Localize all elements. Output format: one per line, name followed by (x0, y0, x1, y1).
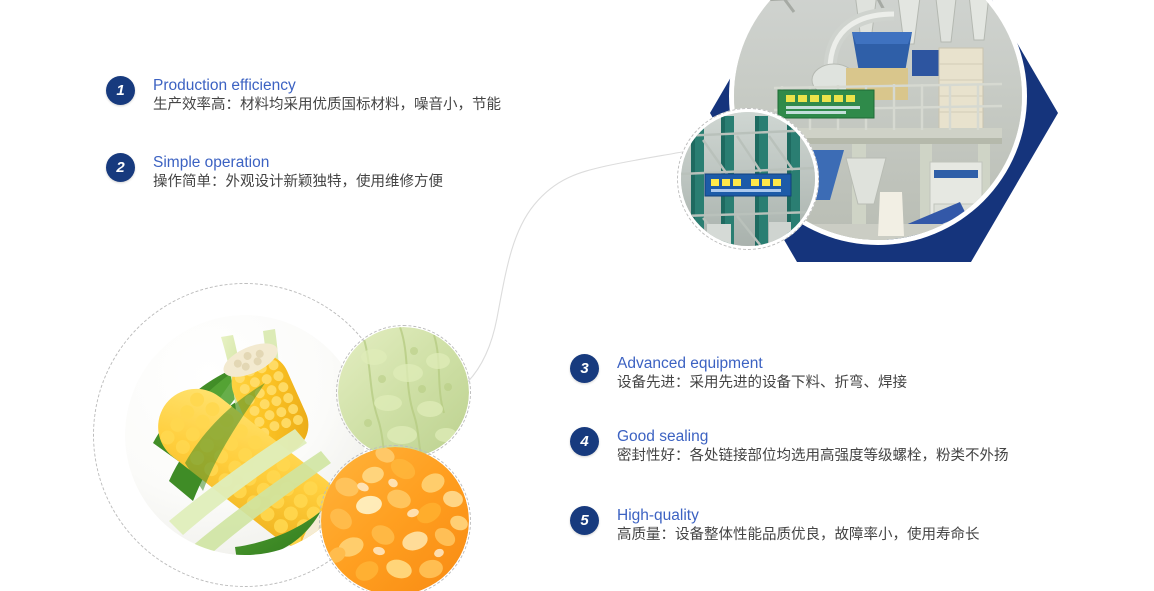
feature-badge-3: 3 (570, 354, 599, 383)
feature-title-4: Good sealing (617, 427, 1009, 446)
feature-text-4: Good sealing 密封性好：各处链接部位均选用高强度等级螺栓，粉类不外扬 (617, 427, 1009, 467)
feature-badge-2: 2 (106, 153, 135, 182)
feature-text-2: Simple operation 操作简单：外观设计新颖独特，使用维修方便 (153, 153, 443, 193)
factory-photo-group (700, 0, 1154, 264)
feature-title-1: Production efficiency (153, 76, 501, 95)
feature-badge-5: 5 (570, 506, 599, 535)
feature-text-1: Production efficiency 生产效率高：材料均采用优质国标材料，… (153, 76, 501, 116)
factory-small-photo (681, 112, 815, 246)
feature-desc-1: 生产效率高：材料均采用优质国标材料，噪音小，节能 (153, 95, 501, 116)
corn-paste-photo (338, 327, 469, 458)
feature-desc-2: 操作简单：外观设计新颖独特，使用维修方便 (153, 172, 443, 193)
feature-desc-3: 设备先进：采用先进的设备下料、折弯、焊接 (617, 373, 907, 394)
feature-item-4[interactable]: 4 Good sealing 密封性好：各处链接部位均选用高强度等级螺栓，粉类不… (570, 427, 1009, 467)
feature-item-2[interactable]: 2 Simple operation 操作简单：外观设计新颖独特，使用维修方便 (106, 153, 443, 193)
feature-text-3: Advanced equipment 设备先进：采用先进的设备下料、折弯、焊接 (617, 354, 907, 394)
corn-grits-photo (321, 447, 469, 591)
feature-item-5[interactable]: 5 High-quality 高质量：设备整体性能品质优良，故障率小，使用寿命长 (570, 506, 980, 546)
feature-title-2: Simple operation (153, 153, 443, 172)
feature-title-3: Advanced equipment (617, 354, 907, 373)
corn-photo-group (93, 283, 473, 591)
infographic-canvas: 1 Production efficiency 生产效率高：材料均采用优质国标材… (0, 0, 1154, 591)
feature-item-1[interactable]: 1 Production efficiency 生产效率高：材料均采用优质国标材… (106, 76, 501, 116)
feature-desc-5: 高质量：设备整体性能品质优良，故障率小，使用寿命长 (617, 525, 980, 546)
feature-item-3[interactable]: 3 Advanced equipment 设备先进：采用先进的设备下料、折弯、焊… (570, 354, 907, 394)
feature-desc-4: 密封性好：各处链接部位均选用高强度等级螺栓，粉类不外扬 (617, 446, 1009, 467)
feature-badge-4: 4 (570, 427, 599, 456)
feature-text-5: High-quality 高质量：设备整体性能品质优良，故障率小，使用寿命长 (617, 506, 980, 546)
feature-title-5: High-quality (617, 506, 980, 525)
feature-badge-1: 1 (106, 76, 135, 105)
